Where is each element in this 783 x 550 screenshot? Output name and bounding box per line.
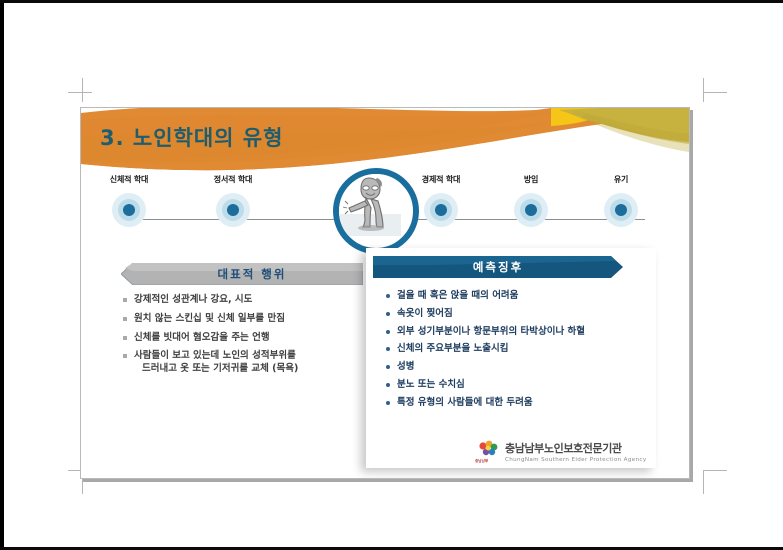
left-panel-content: 강제적인 성관계나 강요, 시도 원치 않는 스킨십 및 신체 일부를 만짐 신…: [121, 294, 371, 382]
list-item-continuation: 드러내고 옷 또는 기저귀를 교체 (목욕): [134, 363, 371, 376]
dot-core: [615, 204, 627, 216]
dot-core: [525, 204, 537, 216]
page-title: 3. 노인학대의 유형: [100, 122, 283, 152]
list-item: 분노 또는 수치심: [384, 379, 646, 392]
dot-core: [227, 204, 239, 216]
representative-behaviors-list: 강제적인 성관계나 강요, 시도 원치 않는 스킨십 및 신체 일부를 만짐 신…: [121, 294, 371, 376]
list-item: 외부 성기부분이나 항문부위의 타박상이나 하혈: [384, 326, 646, 339]
right-banner-label: 예측징후: [373, 256, 631, 278]
timeline-label: 경제적 학대: [399, 174, 483, 185]
presentation-slide: 3. 노인학대의 유형 신체적 학대 정서적 학대: [80, 107, 690, 479]
timeline-dot[interactable]: [112, 193, 146, 227]
timeline-node-0[interactable]: 신체적 학대: [87, 174, 171, 227]
right-panel-content: 걸을 때 혹은 앉을 때의 어려움 속옷이 찢어짐 외부 성기부분이나 항문부위…: [384, 290, 646, 415]
list-item: 원치 않는 스킨십 및 신체 일부를 만짐: [121, 313, 371, 326]
right-panel-card: 예측징후 걸을 때 혹은 앉을 때의 어려움 속옷이 찢어짐 외부 성기부분이나…: [366, 248, 656, 468]
left-banner-label: 대표적 행위: [121, 263, 373, 285]
organization-name-en: ChungNam Southern Elder Protection Agenc…: [505, 457, 647, 463]
timeline-node-4[interactable]: 방임: [489, 174, 573, 227]
timeline-dot[interactable]: [424, 193, 458, 227]
timeline-label: 유기: [579, 174, 663, 185]
dot-core: [123, 204, 135, 216]
timeline-label: 방임: [489, 174, 573, 185]
timeline-node-1[interactable]: 정서적 학대: [191, 174, 275, 227]
timeline-node-5[interactable]: 유기: [579, 174, 663, 227]
timeline-dot[interactable]: [216, 193, 250, 227]
dot-core: [435, 204, 447, 216]
organization-name-block: 충남남부노인보호전문기관 ChungNam Southern Elder Pro…: [505, 440, 647, 463]
list-item: 속옷이 찢어짐: [384, 308, 646, 321]
page-edge-top: [0, 0, 783, 3]
timeline-dot[interactable]: [604, 193, 638, 227]
list-item: 성병: [384, 361, 646, 374]
logo-mark-caption: 충남남부: [475, 459, 488, 464]
timeline-dot[interactable]: [514, 193, 548, 227]
pinwheel-flower-logo-icon: 충남남부: [475, 439, 501, 463]
organization-name-kr: 충남남부노인보호전문기관: [505, 440, 647, 456]
timeline-label: 신체적 학대: [87, 174, 171, 185]
list-item: 걸을 때 혹은 앉을 때의 어려움: [384, 290, 646, 303]
list-item: 신체의 주요부분을 노출시킴: [384, 343, 646, 356]
organization-logo: 충남남부 충남남부노인보호전문기관 ChungNam Southern Elde…: [475, 438, 671, 464]
predictive-signs-list: 걸을 때 혹은 앉을 때의 어려움 속옷이 찢어짐 외부 성기부분이나 항문부위…: [384, 290, 646, 410]
page-edge-left: [0, 0, 4, 550]
right-panel-banner: 예측징후: [373, 256, 623, 278]
timeline-label: 정서적 학대: [191, 174, 275, 185]
list-item: 신체를 빗대어 혐오감을 주는 언행: [121, 332, 371, 345]
list-item: 강제적인 성관계나 강요, 시도: [121, 294, 371, 307]
timeline-node-3[interactable]: 경제적 학대: [399, 174, 483, 227]
list-item: 특정 유형의 사람들에 대한 두려움: [384, 397, 646, 410]
left-panel-banner: 대표적 행위: [121, 263, 363, 285]
list-item: 사람들이 보고 있는데 노인의 성적부위를 드러내고 옷 또는 기저귀를 교체 …: [121, 350, 371, 376]
